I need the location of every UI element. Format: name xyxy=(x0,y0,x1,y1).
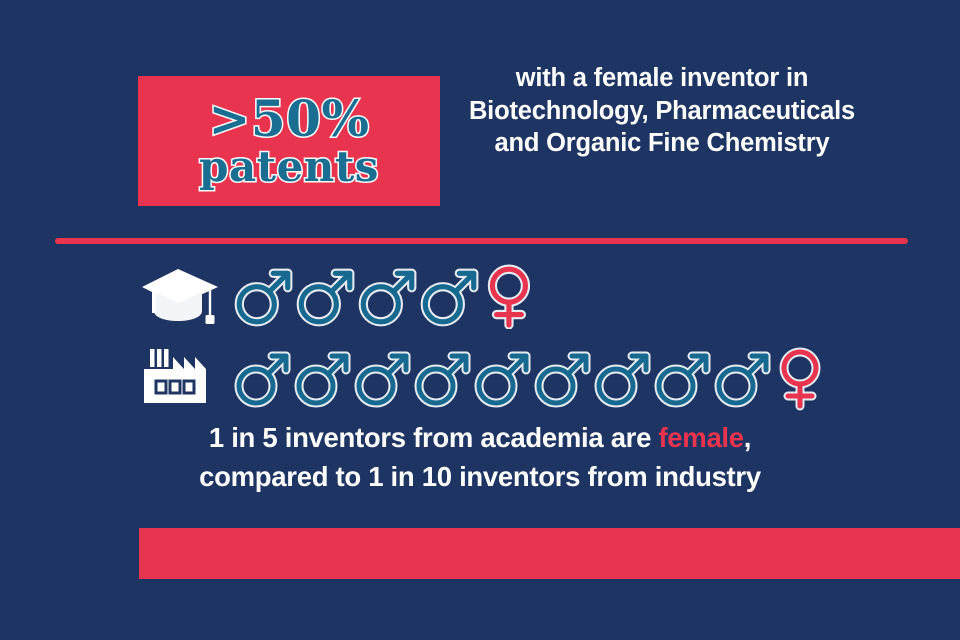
male-symbol-icon xyxy=(352,345,412,411)
headline-text: with a female inventor in Biotechnology,… xyxy=(452,62,872,160)
bottom-accent-bar xyxy=(139,528,960,579)
male-symbol-icon xyxy=(418,263,480,329)
male-symbol-icon xyxy=(412,345,472,411)
male-symbol-icon xyxy=(472,345,532,411)
pictogram-row-industry xyxy=(140,344,832,412)
caption-line1-after: , xyxy=(744,422,751,453)
male-symbol-icon xyxy=(232,263,294,329)
caption-line-1: 1 in 5 inventors from academia are femal… xyxy=(0,418,960,457)
stat-big-value: >50% xyxy=(209,94,370,144)
male-symbol-icon xyxy=(712,345,772,411)
male-symbol-icon xyxy=(294,263,356,329)
male-symbol-icon xyxy=(592,345,652,411)
caption-text: 1 in 5 inventors from academia are femal… xyxy=(0,418,960,496)
male-symbol-icon xyxy=(532,345,592,411)
female-symbol-icon xyxy=(772,345,832,411)
caption-highlight-female: female xyxy=(658,422,743,453)
male-symbol-icon xyxy=(232,345,292,411)
factory-icon xyxy=(140,344,232,412)
caption-line-2: compared to 1 in 10 inventors from indus… xyxy=(0,457,960,496)
male-symbol-icon xyxy=(356,263,418,329)
stat-highlight-box: >50% patents xyxy=(138,76,440,206)
pictogram-row-academia xyxy=(140,262,542,330)
divider-rule xyxy=(55,238,908,244)
graduation-cap-icon xyxy=(140,262,232,330)
infographic-canvas: >50% patents with a female inventor in B… xyxy=(0,0,960,640)
male-symbol-icon xyxy=(652,345,712,411)
stat-sub-label: patents xyxy=(199,146,379,188)
caption-line1-before: 1 in 5 inventors from academia are xyxy=(209,422,659,453)
male-symbol-icon xyxy=(292,345,352,411)
female-symbol-icon xyxy=(480,263,542,329)
